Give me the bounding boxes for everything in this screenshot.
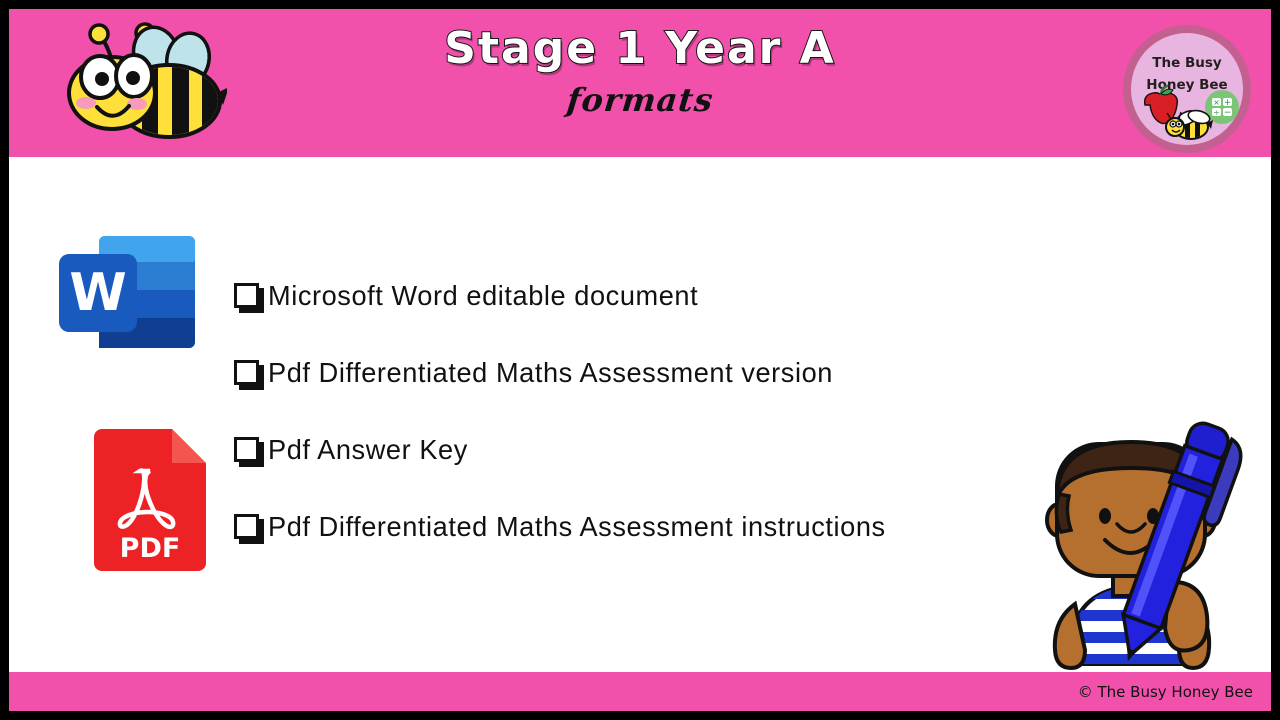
checkbox-icon[interactable] [234,514,259,539]
svg-text:W: W [69,263,126,323]
brand-logo: The Busy Honey Bee × + [1121,23,1253,155]
logo-line-2: Honey Bee [1146,77,1227,93]
copyright-text: © The Busy Honey Bee [1078,683,1253,701]
slide-root: Stage 1 Year A formats The Busy Honey Be… [0,0,1280,720]
svg-text:PDF: PDF [120,533,181,564]
svg-text:−: − [1224,108,1232,118]
page-subtitle: formats [565,81,715,119]
list-item-label: Microsoft Word editable document [268,280,698,312]
svg-text:÷: ÷ [1213,108,1220,117]
list-item[interactable]: Pdf Differentiated Maths Assessment vers… [234,334,1054,411]
slide-page: Stage 1 Year A formats The Busy Honey Be… [9,9,1271,711]
slide-header: Stage 1 Year A formats The Busy Honey Be… [9,9,1271,157]
list-item-label: Pdf Answer Key [268,434,468,466]
checkbox-icon[interactable] [234,283,259,308]
title-block: Stage 1 Year A formats [9,9,1271,157]
svg-text:×: × [1213,98,1220,107]
list-item-label: Pdf Differentiated Maths Assessment vers… [268,357,833,389]
pdf-file-icon: PDF [80,429,220,579]
slide-body: W PDF Microsoft Word editable document [9,157,1271,672]
page-title: Stage 1 Year A [444,27,835,71]
list-item[interactable]: Pdf Differentiated Maths Assessment inst… [234,488,1054,565]
list-item-label: Pdf Differentiated Maths Assessment inst… [268,511,886,543]
list-item[interactable]: Microsoft Word editable document [234,257,1054,334]
checkbox-icon[interactable] [234,360,259,385]
boy-with-pen-illustration [1001,412,1271,672]
microsoft-word-icon: W [57,232,199,352]
list-item[interactable]: Pdf Answer Key [234,411,1054,488]
logo-line-1: The Busy [1152,55,1222,71]
formats-list: Microsoft Word editable document Pdf Dif… [234,257,1054,565]
svg-text:+: + [1224,98,1232,108]
slide-footer: © The Busy Honey Bee [9,672,1271,711]
checkbox-icon[interactable] [234,437,259,462]
